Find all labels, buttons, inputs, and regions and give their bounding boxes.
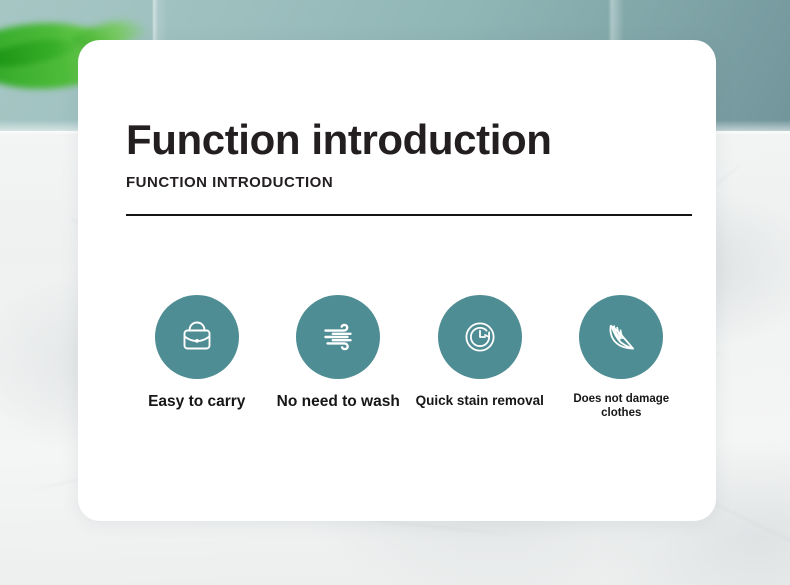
feature-icon-badge bbox=[438, 295, 522, 379]
feature-icon-badge bbox=[579, 295, 663, 379]
feature-label: No need to wash bbox=[277, 393, 400, 411]
wind-lines-icon bbox=[317, 316, 359, 358]
handbag-icon bbox=[176, 316, 218, 358]
feature-icon-badge bbox=[155, 295, 239, 379]
feature-icon-badge bbox=[296, 295, 380, 379]
feather-icon bbox=[600, 316, 642, 358]
feature-item-does-not-damage-clothes[interactable]: Does not damage clothes bbox=[551, 295, 693, 420]
content-card: Function introduction FUNCTION INTRODUCT… bbox=[78, 40, 716, 521]
feature-item-easy-to-carry[interactable]: Easy to carry bbox=[126, 295, 268, 411]
feature-label: Easy to carry bbox=[148, 393, 245, 411]
card-header-block: Function introduction FUNCTION INTRODUCT… bbox=[126, 118, 692, 216]
slide-stage: Function introduction FUNCTION INTRODUCT… bbox=[0, 0, 790, 585]
feature-list: Easy to carry No need to wash bbox=[126, 295, 692, 420]
clock-refresh-icon bbox=[459, 316, 501, 358]
feature-label: Does not damage clothes bbox=[566, 393, 676, 420]
feature-item-quick-stain-removal[interactable]: Quick stain removal bbox=[409, 295, 551, 409]
feature-item-no-need-to-wash[interactable]: No need to wash bbox=[268, 295, 410, 411]
page-title: Function introduction bbox=[126, 118, 692, 163]
page-subtitle: FUNCTION INTRODUCTION bbox=[126, 174, 692, 191]
feature-label: Quick stain removal bbox=[416, 393, 544, 409]
header-divider bbox=[126, 214, 692, 216]
